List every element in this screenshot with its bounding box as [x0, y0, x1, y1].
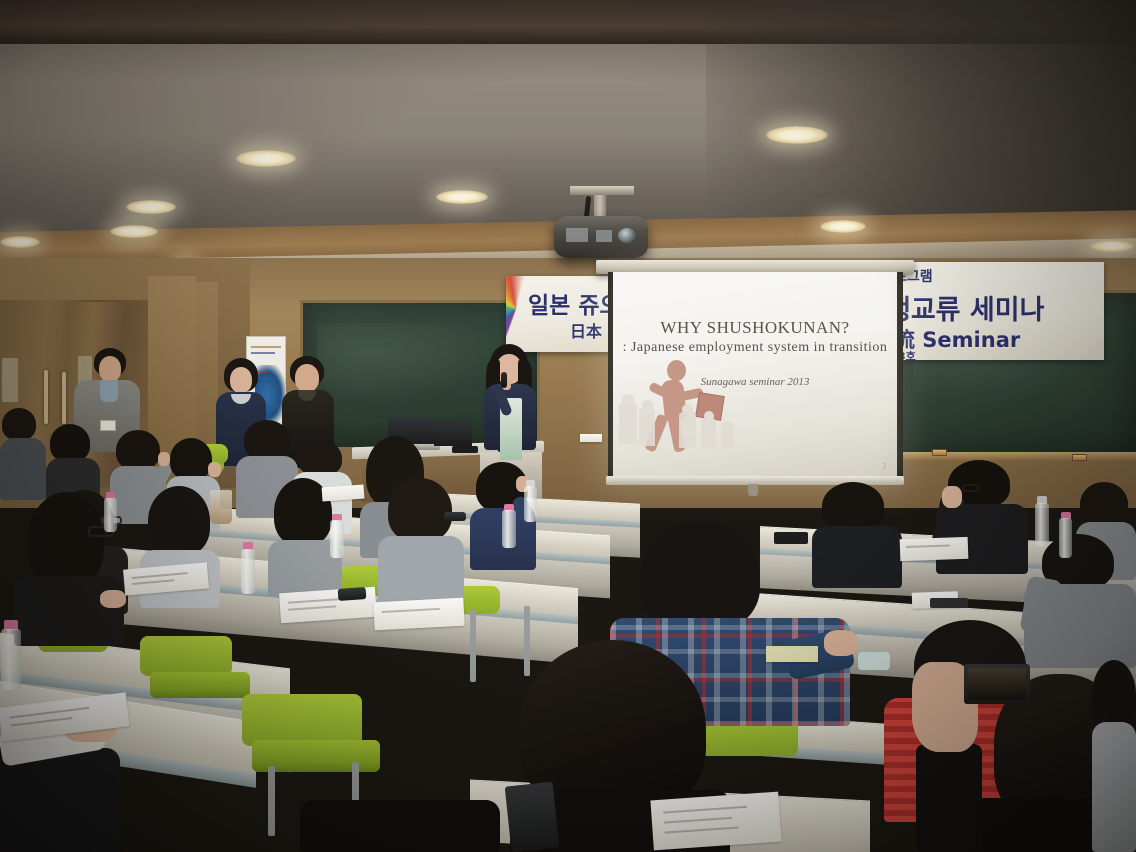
projector-mount-plate — [570, 186, 634, 195]
audience-back-left-1 — [0, 408, 50, 498]
paper-handout-9[interactable] — [322, 485, 365, 502]
slide-crowd-silhouette-5 — [721, 422, 734, 448]
audience-mid-4 — [378, 478, 464, 602]
slide-crowd-head-3 — [682, 404, 693, 415]
screen-edge-right — [896, 272, 903, 482]
slide-crowd-silhouette-2 — [639, 408, 655, 446]
ceiling-downlight-1 — [236, 150, 296, 167]
slide-crowd-head-4 — [704, 411, 714, 421]
ceiling-downlight-3 — [110, 225, 158, 238]
ceiling-downlight-2 — [126, 200, 176, 214]
smartphone[interactable] — [964, 664, 1030, 704]
water-bottle-5[interactable] — [104, 492, 117, 532]
water-bottle-3[interactable] — [502, 504, 516, 548]
chalk-box-1 — [932, 449, 947, 456]
water-bottle-6[interactable] — [0, 620, 22, 690]
paper-handout-10[interactable] — [580, 434, 602, 442]
banner-right-korean: 생교류 세미나 — [886, 288, 1044, 327]
phone-on-desk-3[interactable] — [505, 782, 560, 852]
paper-handout-3[interactable] — [373, 598, 464, 631]
slide-crowd-head-2 — [642, 400, 653, 411]
book-on-desk[interactable] — [930, 598, 968, 608]
projector-lens — [618, 228, 636, 243]
photographer-arm — [916, 744, 982, 852]
slide-crowd-silhouette-1 — [619, 402, 637, 444]
eraser-box[interactable] — [858, 652, 890, 670]
staff-shirt-collar — [100, 380, 118, 402]
door-window-pane — [2, 358, 18, 402]
slide-crowd-silhouette-3 — [679, 412, 696, 448]
chair-back-4[interactable] — [140, 636, 232, 676]
pencil-case[interactable] — [774, 532, 808, 544]
banner-left-korean: 일본 쥬오 — [528, 286, 621, 320]
slide-page-number: 1 — [883, 461, 888, 471]
chair-leg-9 — [470, 610, 476, 682]
door-handle-right[interactable] — [62, 372, 66, 424]
ceiling-downlight-8 — [0, 236, 40, 248]
projector-vent-2 — [596, 230, 612, 242]
paper-handout-5[interactable] — [650, 792, 781, 851]
ceiling-downlight-7 — [1090, 240, 1134, 252]
projector-vent — [566, 228, 588, 242]
paper-handout-8[interactable] — [766, 646, 818, 662]
student-center-face — [295, 364, 319, 392]
chair-leg-5 — [268, 766, 275, 836]
ceiling-downlight-5 — [766, 126, 828, 144]
slide-crowd-silhouette-4 — [701, 418, 716, 448]
iced-drink-cup[interactable] — [210, 490, 232, 524]
pull-down-projection-screen: WHY SHUSHOKUNAN? : Japanese employment s… — [613, 272, 897, 477]
water-bottle-2[interactable] — [330, 514, 344, 558]
water-bottle-7[interactable] — [1034, 496, 1050, 546]
slide-subtitle: : Japanese employment system in transiti… — [613, 340, 897, 356]
eyeglasses-icon-3 — [962, 484, 980, 492]
console-equipment-box[interactable] — [452, 446, 478, 453]
screen-pull-tab[interactable] — [748, 484, 758, 496]
chair-back-5[interactable] — [242, 694, 362, 746]
water-bottle-4[interactable] — [524, 480, 537, 522]
paper-handout-6[interactable] — [900, 537, 969, 561]
slide-crowd-head-1 — [622, 394, 634, 406]
audience-right-edge — [1092, 660, 1136, 852]
phone-on-desk-1[interactable] — [338, 587, 367, 601]
banner-right: 로그램 생교류 세미나 流 Seminar 3호 — [878, 262, 1104, 360]
audience-bottom-left-edge — [300, 800, 500, 852]
ceiling-downlight-4 — [436, 190, 488, 204]
handheld-microphone[interactable] — [501, 372, 507, 388]
lecture-hall-photo: 일본 쥬오 日本 中 로그램 생교류 세미나 流 Seminar 3호 WHY … — [0, 0, 1136, 852]
water-bottle-8[interactable] — [1058, 512, 1073, 558]
staff-face — [99, 356, 121, 382]
slide-title: WHY SHUSHOKUNAN? — [613, 318, 897, 338]
ceiling-downlight-6 — [820, 220, 866, 233]
water-bottle-1[interactable] — [240, 542, 256, 594]
phone-on-desk-2[interactable] — [444, 512, 466, 521]
presenter-with-microphone — [478, 344, 542, 464]
student-left-face — [230, 367, 252, 393]
chair-seat-4[interactable] — [150, 672, 250, 698]
chalk-box-2 — [1072, 454, 1087, 461]
monitor-secondary[interactable] — [434, 420, 472, 446]
